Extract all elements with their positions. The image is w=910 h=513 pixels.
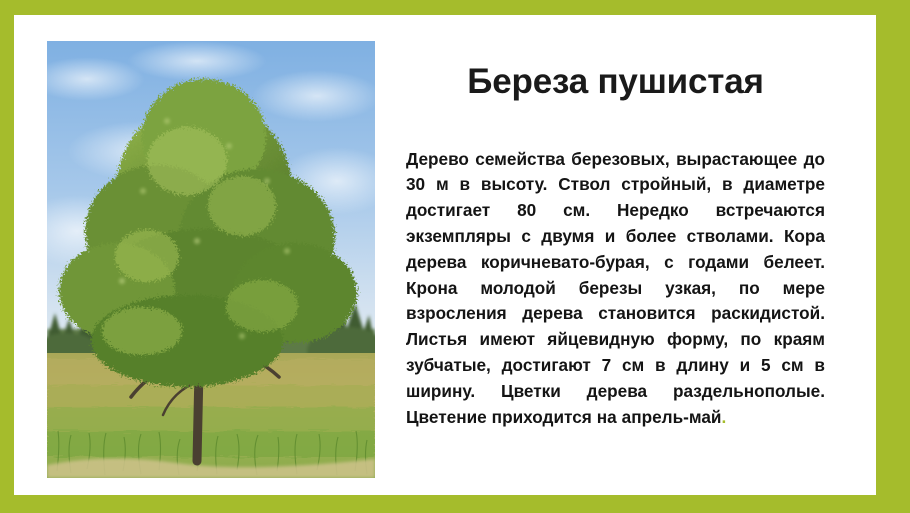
frame-border-top (0, 0, 910, 15)
frame-border-left (0, 0, 14, 513)
accent-period: . (722, 407, 727, 427)
birch-tree-photo (47, 41, 375, 478)
slide: Береза пушистая Дерево семейства березов… (0, 0, 910, 513)
text-column: Береза пушистая Дерево семейства березов… (406, 62, 825, 430)
description-paragraph: Дерево семейства березовых, вырастающее … (406, 147, 825, 431)
page-title: Береза пушистая (406, 62, 825, 103)
frame-border-right (876, 0, 910, 513)
frame-border-bottom (0, 495, 910, 513)
description-text: Дерево семейства березовых, вырастающее … (406, 149, 825, 427)
